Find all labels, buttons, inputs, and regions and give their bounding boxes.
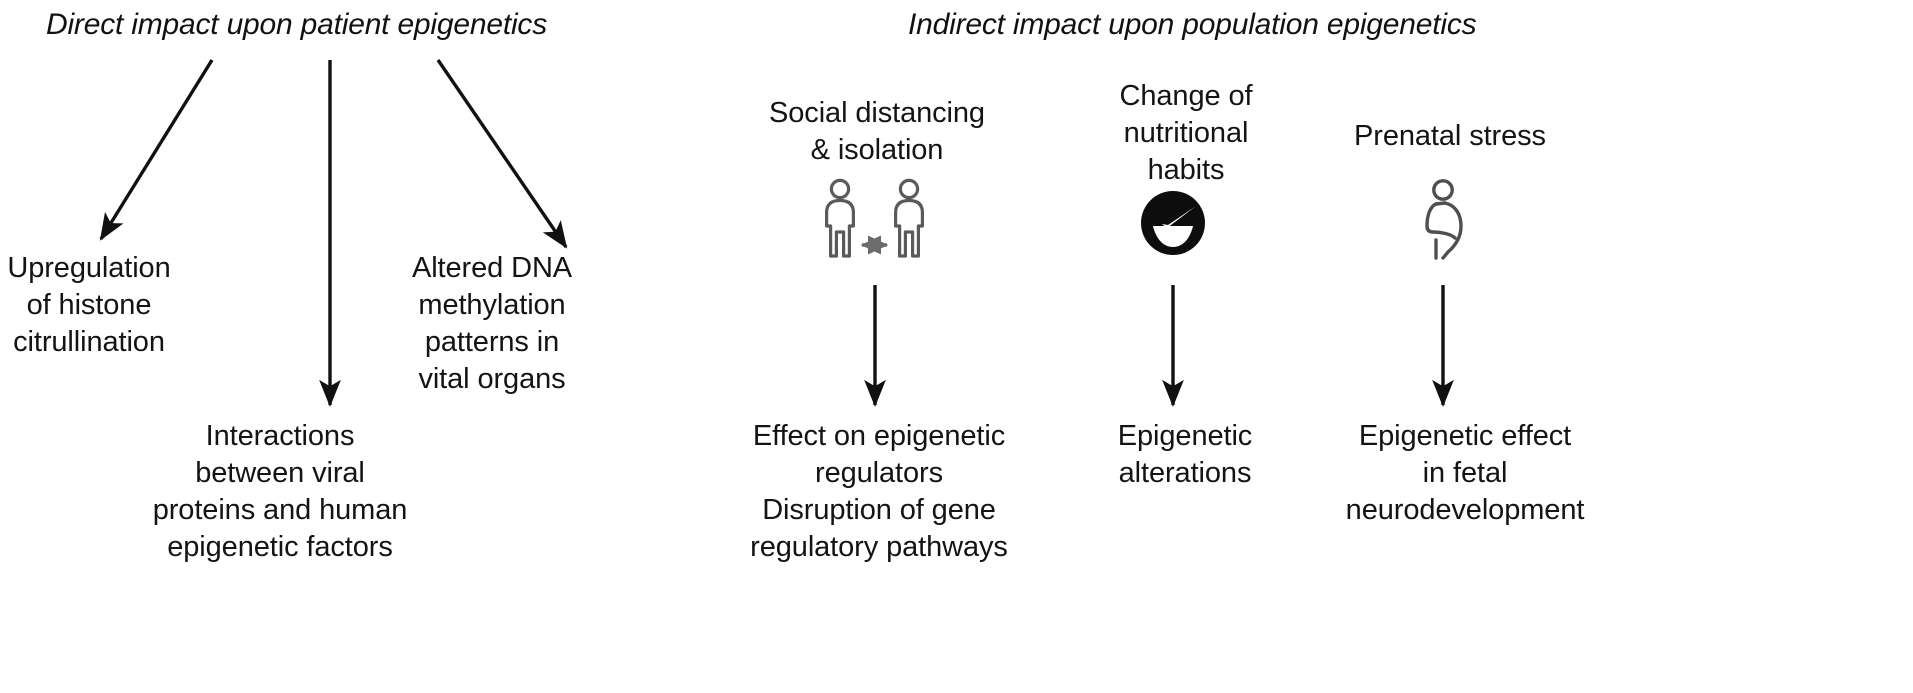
node-interactions-line-4: epigenetic factors xyxy=(130,529,430,566)
left-panel-title: Direct impact upon patient epigenetics xyxy=(46,8,547,42)
food-bowl-icon xyxy=(1140,190,1206,256)
node-fetal-neuro-line-2: in fetal xyxy=(1320,455,1610,492)
label-social-distancing-line-2: & isolation xyxy=(762,132,992,169)
label-nutrition-line-1: Change of xyxy=(1076,78,1296,115)
node-effect-line-1: Effect on epigenetic xyxy=(744,418,1014,455)
label-prenatal-stress-line-1: Prenatal stress xyxy=(1330,118,1570,155)
label-social-distancing: Social distancing & isolation xyxy=(762,95,992,169)
node-interactions-line-2: between viral xyxy=(130,455,430,492)
node-altered-dna-line-2: methylation xyxy=(392,287,592,324)
node-fetal-neuro-line-3: neurodevelopment xyxy=(1320,492,1610,529)
node-altered-dna-line-3: patterns in xyxy=(392,324,592,361)
node-effect-line-4: regulatory pathways xyxy=(744,529,1014,566)
node-epigenetic-effect-fetal-neurodevelopment: Epigenetic effect in fetal neurodevelopm… xyxy=(1320,418,1610,529)
node-fetal-neuro-line-1: Epigenetic effect xyxy=(1320,418,1610,455)
node-interactions-line-3: proteins and human xyxy=(130,492,430,529)
node-upregulation-line-1: Upregulation xyxy=(0,250,184,287)
connector-left-title-to-upregulation xyxy=(101,60,212,239)
node-effect-on-epigenetic-regulators: Effect on epigenetic regulators Disrupti… xyxy=(744,418,1014,566)
node-altered-dna-line-4: vital organs xyxy=(392,361,592,398)
label-social-distancing-line-1: Social distancing xyxy=(762,95,992,132)
node-interactions: Interactions between viral proteins and … xyxy=(130,418,430,566)
node-epigenetic-alterations-line-2: alterations xyxy=(1060,455,1310,492)
connector-left-title-to-altered-dna xyxy=(438,60,566,247)
node-epigenetic-alterations: Epigenetic alterations xyxy=(1060,418,1310,492)
node-upregulation: Upregulation of histone citrullination xyxy=(0,250,184,361)
label-nutrition-line-3: habits xyxy=(1076,152,1296,189)
two-people-distancing-icon xyxy=(820,178,930,260)
node-effect-line-3: Disruption of gene xyxy=(744,492,1014,529)
label-change-of-nutritional-habits: Change of nutritional habits xyxy=(1076,78,1296,189)
node-interactions-line-1: Interactions xyxy=(130,418,430,455)
pregnant-woman-icon xyxy=(1415,178,1471,262)
node-altered-dna: Altered DNA methylation patterns in vita… xyxy=(392,250,592,398)
node-altered-dna-line-1: Altered DNA xyxy=(392,250,592,287)
node-epigenetic-alterations-line-1: Epigenetic xyxy=(1060,418,1310,455)
label-prenatal-stress: Prenatal stress xyxy=(1330,118,1570,155)
node-effect-line-2: regulators xyxy=(744,455,1014,492)
label-nutrition-line-2: nutritional xyxy=(1076,115,1296,152)
node-upregulation-line-3: citrullination xyxy=(0,324,184,361)
right-panel-title: Indirect impact upon population epigenet… xyxy=(908,8,1476,42)
epigenetics-impact-figure: Direct impact upon patient epigenetics I… xyxy=(0,0,1913,693)
node-upregulation-line-2: of histone xyxy=(0,287,184,324)
